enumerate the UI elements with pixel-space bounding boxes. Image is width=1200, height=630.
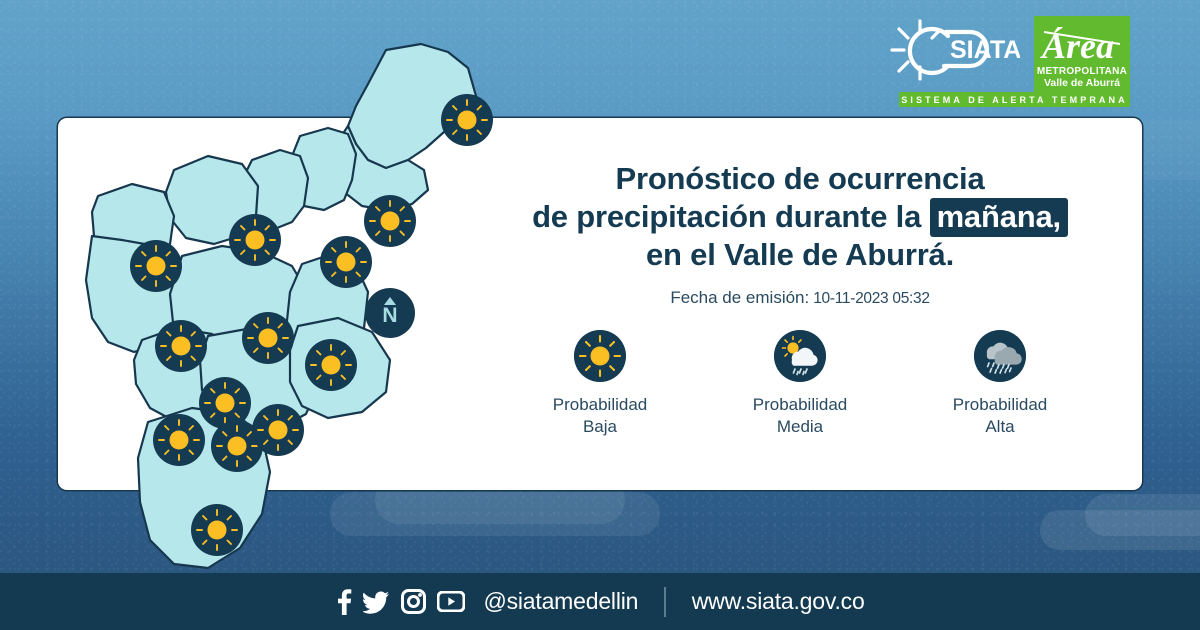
legend-label-alta: Probabilidad Alta [953,394,1048,438]
headline-highlight: mañana, [930,198,1068,237]
legend-label-media: Probabilidad Media [753,394,848,438]
headline-line-2-text: de precipitación durante la [532,199,921,234]
sun-icon [242,312,294,364]
svg-text:SIATA: SIATA [950,36,1020,64]
map-marker-caldas-sur[interactable] [191,504,243,556]
headline-line-3: en el Valle de Aburrá. [500,236,1100,274]
compass-label: N [382,305,397,326]
map-marker-la-estrella[interactable] [153,414,205,466]
twitter-icon[interactable] [363,589,390,615]
sun-icon [441,94,493,146]
headline-panel: Pronóstico de ocurrencia de precipitació… [500,160,1100,308]
area-logo-line2: Valle de Aburrá [1044,77,1120,89]
legend-media-line1: Probabilidad [753,394,848,416]
footer-divider [664,587,666,617]
map-marker-copacabana[interactable] [320,236,372,288]
legend-baja-line2: Baja [553,416,648,438]
sun-icon [320,236,372,288]
map-marker-caldas[interactable] [252,404,304,456]
cloud-heavy-rain-icon [974,330,1026,382]
issue-date: Fecha de emisión:10-11-2023 05:32 [500,288,1100,308]
social-icons [335,588,465,616]
legend-item-baja: Probabilidad Baja [500,330,700,438]
map-marker-bello[interactable] [130,240,182,292]
sun-icon [155,320,207,372]
map-marker-barbosa[interactable] [441,94,493,146]
issue-date-value: 10-11-2023 05:32 [813,290,929,307]
map-marker-envigado[interactable] [305,339,357,391]
footer-bar: @siatamedellin www.siata.gov.co [0,573,1200,630]
legend-item-media: Probabilidad Media [700,330,900,438]
issue-date-label: Fecha de emisión: [670,288,809,307]
legend-alta-line1: Probabilidad [953,394,1048,416]
legend-baja-line1: Probabilidad [553,394,648,416]
valle-de-aburra-map: N [56,40,476,580]
tagline-bar: SISTEMA DE ALERTA TEMPRANA [899,92,1130,107]
legend-item-alta: Probabilidad Alta [900,330,1100,438]
svg-text:Área: Área [1040,26,1114,66]
sun-icon [191,504,243,556]
sun-icon [574,330,626,382]
sun-icon [229,214,281,266]
compass-arrow [384,297,396,305]
sun-icon [153,414,205,466]
decorative-cloud-2b [1085,494,1200,536]
map-marker-itagui[interactable] [155,320,207,372]
sun-icon [130,240,182,292]
instagram-icon[interactable] [401,589,426,614]
sun-cloud-logo-icon: SIATA [890,16,1020,88]
map-marker-medellin[interactable] [242,312,294,364]
sun-icon [252,404,304,456]
website-url[interactable]: www.siata.gov.co [692,588,865,615]
page-title: Pronóstico de ocurrencia de precipitació… [500,160,1100,274]
header-logos: SIATA Área METROPOLITANA Valle de Aburrá [890,16,1130,94]
headline-line-1: Pronóstico de ocurrencia [500,160,1100,198]
youtube-icon[interactable] [437,591,465,612]
legend-label-baja: Probabilidad Baja [553,394,648,438]
social-handle[interactable]: @siatamedellin [483,588,638,615]
area-metropolitana-logo: Área METROPOLITANA Valle de Aburrá [1034,16,1130,94]
siata-logo: SIATA [890,16,1020,88]
sun-cloud-rain-icon [774,330,826,382]
map-marker-san-pedro[interactable] [229,214,281,266]
sun-icon [305,339,357,391]
probability-legend: Probabilidad Baja [500,330,1100,438]
facebook-icon[interactable] [335,588,352,616]
infographic-root: SIATA Área METROPOLITANA Valle de Aburrá… [0,0,1200,630]
compass-north-icon: N [365,288,415,338]
area-script-icon: Área [1034,18,1130,70]
legend-media-line2: Media [753,416,848,438]
legend-alta-line2: Alta [953,416,1048,438]
headline-line-2: de precipitación durante la mañana, [500,198,1100,236]
